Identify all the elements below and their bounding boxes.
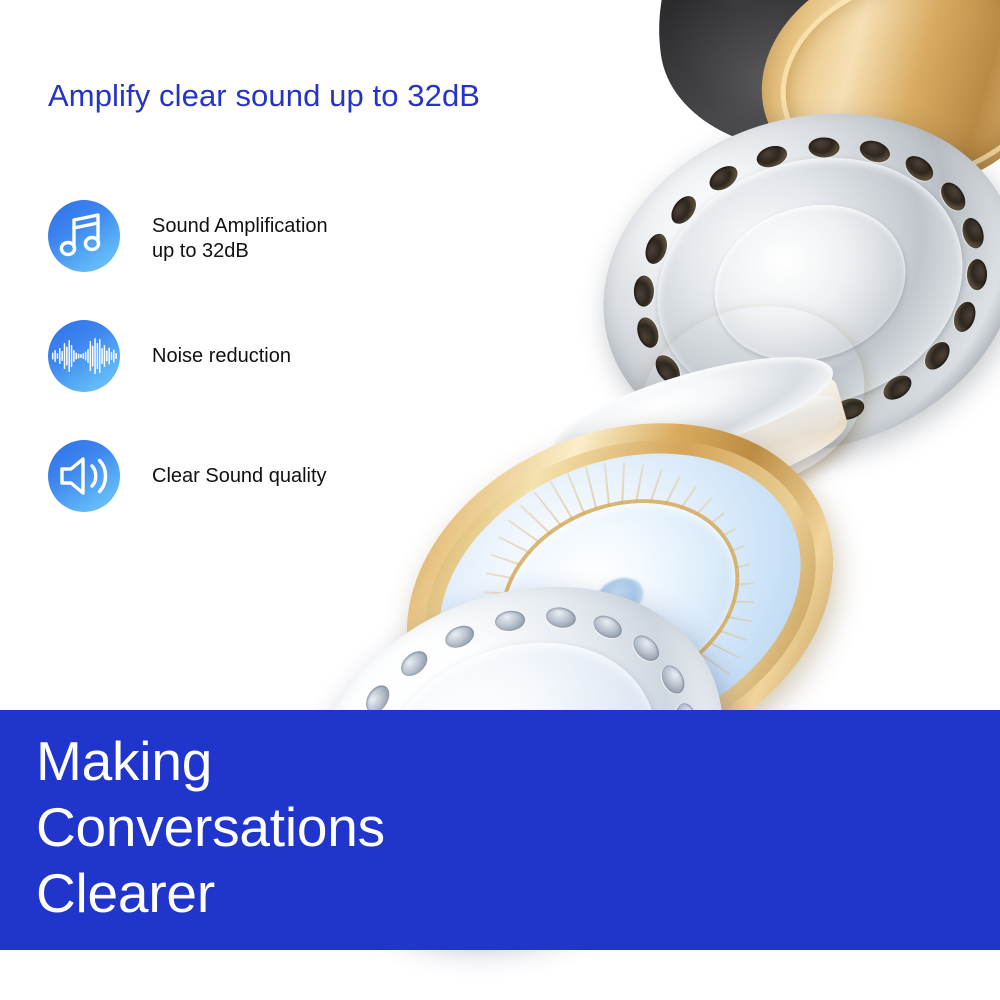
feature-label-line1: Sound Amplification bbox=[152, 214, 328, 239]
bottom-banner: Making Conversations Clearer bbox=[0, 710, 1000, 950]
feature-item-noise-reduction: Noise reduction bbox=[48, 320, 468, 440]
product-marketing-image: Amplify clear sound up to 32dB Sound Amp… bbox=[0, 0, 1000, 1000]
feature-label-line1: Clear Sound quality bbox=[152, 464, 327, 489]
feature-label-sound-amplification: Sound Amplification up to 32dB bbox=[152, 214, 328, 264]
banner-line-2: Conversations bbox=[36, 794, 385, 860]
feature-list: Sound Amplification up to 32dB Noise red… bbox=[48, 200, 468, 560]
feature-item-sound-amplification: Sound Amplification up to 32dB bbox=[48, 200, 468, 320]
feature-label-line1: Noise reduction bbox=[152, 344, 291, 369]
audio-waveform-icon bbox=[48, 320, 120, 392]
banner-line-3: Clearer bbox=[36, 860, 385, 926]
music-note-icon bbox=[48, 200, 120, 272]
feature-item-clear-sound-quality: Clear Sound quality bbox=[48, 440, 468, 560]
feature-label-clear-sound-quality: Clear Sound quality bbox=[152, 464, 327, 489]
feature-label-line2: up to 32dB bbox=[152, 239, 328, 264]
banner-tagline: Making Conversations Clearer bbox=[36, 728, 385, 926]
speaker-volume-icon bbox=[48, 440, 120, 512]
feature-label-noise-reduction: Noise reduction bbox=[152, 344, 291, 369]
banner-line-1: Making bbox=[36, 728, 385, 794]
